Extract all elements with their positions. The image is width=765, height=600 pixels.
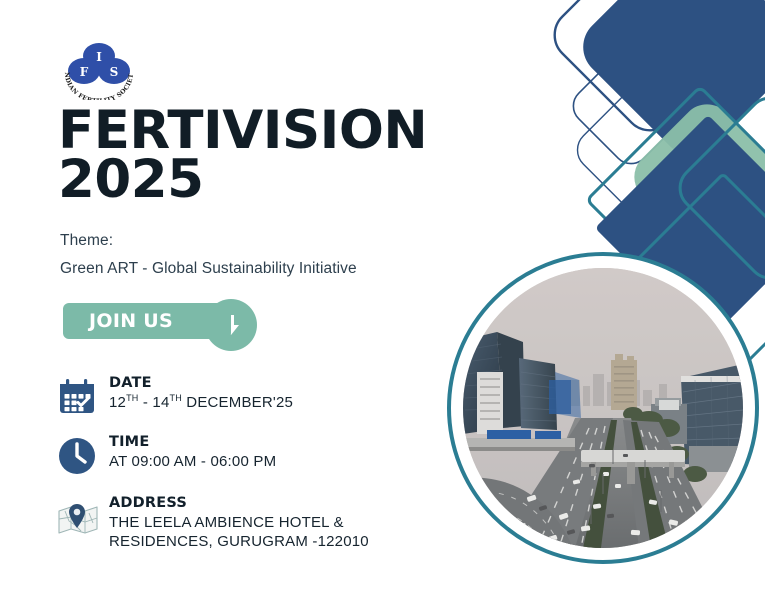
gurugram-cityscape-photo — [463, 268, 743, 548]
page-title: FERTIVISION 2025 — [58, 107, 427, 205]
ifs-logo-svg: I F S INDIAN FERTILITY SOCIETY — [60, 40, 138, 100]
map-pin-icon — [55, 495, 101, 541]
join-us-label: JOIN US — [89, 310, 173, 332]
logo-letter-i: I — [96, 50, 102, 64]
theme-label: Theme: — [60, 232, 113, 250]
indian-fertility-society-logo: I F S INDIAN FERTILITY SOCIETY — [60, 40, 138, 100]
date-heading: DATE — [109, 375, 293, 392]
logo-letter-s: S — [110, 65, 119, 79]
join-us-button[interactable]: JOIN US — [63, 303, 231, 339]
date-value: 12TH - 14TH DECEMBER'25 — [109, 393, 293, 413]
poster-canvas: I F S INDIAN FERTILITY SOCIETY FERTIVISI… — [0, 0, 765, 600]
address-heading: ADDRESS — [109, 495, 369, 512]
detail-row-date: DATE 12TH - 14TH DECEMBER'25 — [55, 375, 293, 421]
clock-icon — [55, 434, 101, 480]
calendar-icon — [55, 375, 101, 421]
theme-text: Green ART - Global Sustainability Initia… — [60, 260, 357, 278]
time-heading: TIME — [109, 434, 276, 451]
address-value-line-2: RESIDENCES, GURUGRAM -122010 — [109, 532, 369, 552]
time-value: AT 09:00 AM - 06:00 PM — [109, 452, 276, 472]
cityscape-illustration — [463, 268, 743, 548]
detail-row-time: TIME AT 09:00 AM - 06:00 PM — [55, 434, 276, 480]
address-value-line-1: THE LEELA AMBIENCE HOTEL & — [109, 513, 369, 533]
logo-letter-f: F — [80, 65, 89, 79]
title-line-2: 2025 — [58, 156, 427, 205]
detail-row-address: ADDRESS THE LEELA AMBIENCE HOTEL & RESID… — [55, 495, 369, 552]
content-column: I F S INDIAN FERTILITY SOCIETY FERTIVISI… — [0, 0, 440, 600]
